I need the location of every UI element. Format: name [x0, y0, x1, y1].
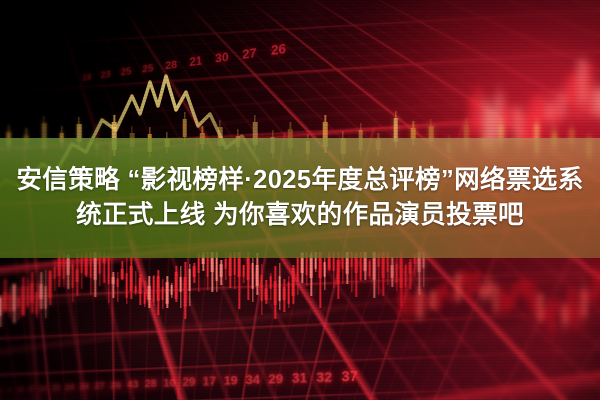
- headline-line-1: 安信策略 “影视榜样·2025年度总评榜”网络票选系: [16, 166, 583, 195]
- headline-line-2: 统正式上线 为你喜欢的作品演员投票吧: [76, 201, 524, 230]
- news-banner-image: 182325252821302726 129181720232424272643…: [0, 0, 600, 400]
- headline-block: 安信策略 “影视榜样·2025年度总评榜”网络票选系 统正式上线 为你喜欢的作品…: [0, 138, 600, 258]
